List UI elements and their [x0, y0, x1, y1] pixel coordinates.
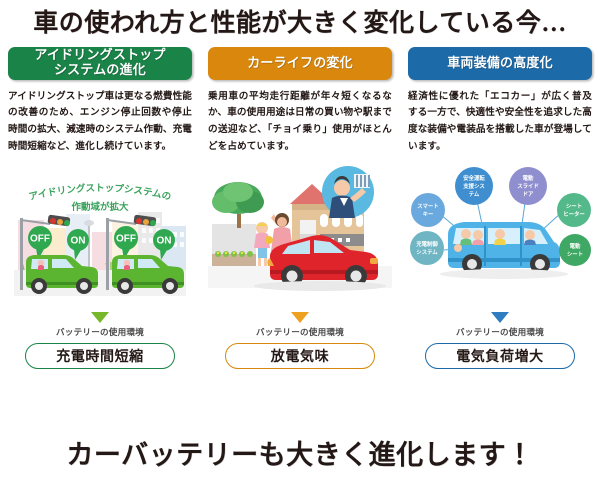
callout-smart-key[interactable]: スマート キー [411, 193, 445, 227]
callout-smart-key-line1: スマート [417, 203, 438, 210]
car-life-scene [208, 162, 392, 310]
footer-tagline: カーバッテリーも大きく進化します！ [0, 433, 600, 472]
callout-safety-line3: テム [469, 191, 480, 198]
callout-slide-line2: スライド [517, 183, 539, 190]
banner-line-1: アイドリングストップ [34, 48, 165, 63]
pill-electric-load[interactable]: 電気負荷増大 [425, 343, 575, 369]
callout-charge-control[interactable]: 充電制御 システム [410, 231, 444, 265]
vehicle-equipment-scene: スマート キー 安全運転 支援シス テム 電動 スライド ドア シ [408, 162, 592, 310]
bubble-off-left-label: OFF [30, 233, 50, 244]
column-vehicle-equipment: 車両装備の高度化 経済性に優れた「エコカー」が広く普及する一方で、快適性や安全性… [400, 47, 600, 369]
callout-seat-heater[interactable]: シート ヒーター [557, 193, 591, 227]
column-idling-stop: アイドリングストップ システムの進化 アイドリングストップ車は更なる燃費性能の改… [0, 47, 200, 369]
banner-vehicle-equipment[interactable]: 車両装備の高度化 [408, 47, 592, 80]
body-text-idling-stop: アイドリングストップ車は更なる燃費性能の改善のため、エンジン停止回数や停止時間の… [8, 89, 192, 156]
arrow-down-orange [291, 312, 309, 323]
idling-stop-scene: アイドリングストップシステムの 作動域が拡大 [8, 162, 192, 310]
callout-smart-key-line2: キー [423, 211, 434, 218]
banner-line-1: カーライフの変化 [247, 56, 353, 71]
wall-and-hedge [212, 224, 256, 266]
callout-heater-line2: ヒーター [563, 210, 585, 218]
sub-caption-car-life: バッテリーの使用環境 [208, 326, 392, 338]
banner-car-life[interactable]: カーライフの変化 [208, 47, 392, 80]
column-container: アイドリングストップ システムの進化 アイドリングストップ車は更なる燃費性能の改… [0, 38, 600, 369]
bubble-on-right-label: ON [157, 235, 172, 246]
callout-power-seat[interactable]: 電動 シート [559, 234, 591, 266]
callout-safety-line1: 安全運転 [463, 174, 485, 182]
sub-caption-idling-stop: バッテリーの使用環境 [8, 326, 192, 338]
callout-slide-line1: 電動 [523, 174, 534, 182]
sub-caption-vehicle-equipment: バッテリーの使用環境 [408, 326, 592, 338]
pill-discharge[interactable]: 放電気味 [225, 343, 375, 369]
illustration-vehicle-equipment: スマート キー 安全運転 支援シス テム 電動 スライド ドア シ [408, 162, 592, 310]
callout-slide-line3: ドア [523, 191, 534, 198]
illustration-idling-stop: アイドリングストップシステムの 作動域が拡大 [8, 162, 192, 310]
blue-minivan [448, 222, 560, 274]
callout-seat-line1: 電動 [570, 242, 581, 250]
pill-charge-time[interactable]: 充電時間短縮 [25, 343, 175, 369]
callout-charge-line1: 充電制御 [415, 240, 438, 248]
callout-heater-line1: シート [566, 203, 582, 210]
body-text-vehicle-equipment: 経済性に優れた「エコカー」が広く普及する一方で、快適性や安全性を追求した高度な装… [408, 89, 592, 156]
callout-power-slide-door[interactable]: 電動 スライド ドア [509, 167, 547, 205]
bubble-on-left-label: ON [71, 235, 86, 246]
callout-seat-line2: シート [567, 251, 583, 258]
banner-idling-stop[interactable]: アイドリングストップ システムの進化 [8, 47, 192, 80]
businessman-inset [322, 166, 374, 218]
callout-safety-system[interactable]: 安全運転 支援シス テム [455, 167, 493, 205]
banner-line-2: システムの進化 [34, 63, 165, 78]
body-text-car-life: 乗用車の平均走行距離が年々短くなるなか、車の使用用途は日常の買い物や駅までの送迎… [208, 89, 392, 156]
banner-line-1: 車両装備の高度化 [447, 56, 553, 71]
arc-text-line-2: 作動域が拡大 [71, 201, 129, 213]
arrow-down-green [91, 312, 109, 323]
arrow-down-blue [491, 312, 509, 323]
bubble-off-right-label: OFF [116, 233, 136, 244]
callout-charge-line2: システム [416, 249, 438, 256]
page-title: 車の使われ方と性能が大きく変化している今… [0, 0, 600, 38]
illustration-car-life [208, 162, 392, 310]
column-car-life: カーライフの変化 乗用車の平均走行距離が年々短くなるなか、車の使用用途は日常の買… [200, 47, 400, 369]
tree-icon [212, 182, 264, 228]
callout-safety-line2: 支援シス [463, 182, 485, 190]
